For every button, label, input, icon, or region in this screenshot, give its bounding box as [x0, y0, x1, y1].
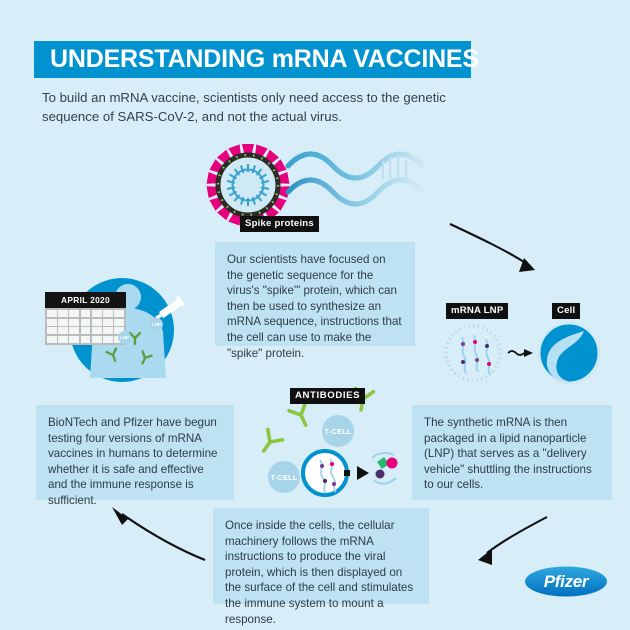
infographic-root: UNDERSTANDING mRNA VACCINES To build an … [0, 0, 630, 630]
pfizer-logo: Pfizer [524, 565, 608, 598]
cell-nucleus-shape [547, 331, 584, 382]
textbox-once-inside: Once inside the cells, the cellular mach… [213, 508, 429, 604]
calendar-month-label: APRIL 2020 [45, 292, 126, 308]
textbox-scientists: Our scientists have focused on the genet… [215, 242, 415, 346]
lnp-shell [446, 326, 500, 380]
virus-rna-icon [227, 164, 269, 206]
squiggle-arrow [508, 351, 524, 355]
arrow-cell-to-onceinside [478, 517, 547, 565]
virus-illustration [207, 144, 290, 226]
body-bubble-lnp-1: LNP [118, 331, 131, 344]
page-title-bar: UNDERSTANDING mRNA VACCINES [34, 41, 471, 78]
t-cell-bubble-1: T-CELL [322, 415, 354, 447]
label-mrna-lnp: mRNA LNP [446, 303, 508, 319]
t-cell-bubble-2: T-CELL [268, 461, 300, 493]
calendar-icon: APRIL 2020 [45, 292, 126, 345]
protein-particles [372, 453, 398, 484]
intro-paragraph: To build an mRNA vaccine, scientists onl… [42, 88, 462, 126]
lnp-mrna-strands [461, 336, 491, 374]
cell-illustration [539, 323, 599, 383]
cell-mrna-strand [320, 459, 336, 493]
lnp-illustration [446, 326, 533, 380]
virus-envelope [218, 155, 278, 215]
squiggle-arrowhead [524, 349, 533, 357]
textbox-biontech: BioNTech and Pfizer have begun testing f… [36, 405, 234, 500]
displayed-spike-protein [344, 466, 369, 480]
label-antibodies: ANTIBODIES [290, 388, 365, 404]
page-title: UNDERSTANDING mRNA VACCINES [50, 45, 479, 74]
cell-membrane [539, 323, 599, 383]
calendar-grid [45, 308, 126, 345]
pfizer-wordmark: Pfizer [524, 565, 608, 598]
textbox-synthetic: The synthetic mRNA is then packaged in a… [412, 405, 612, 500]
presenting-cell [303, 451, 347, 495]
spike-protein-icons [207, 144, 290, 226]
virus-interior [222, 159, 274, 211]
body-bubble-lnp-2: LNP [150, 318, 163, 331]
arrow-onceinside-to-biontech [112, 507, 205, 560]
arrow-dna-to-lnp [450, 224, 535, 272]
dna-helix-illustration [288, 154, 423, 204]
label-cell: Cell [552, 303, 580, 319]
virus-envelope-dots [218, 155, 278, 215]
label-spike-proteins: Spike proteins [240, 216, 319, 232]
cell-mrna-beads [320, 462, 336, 486]
